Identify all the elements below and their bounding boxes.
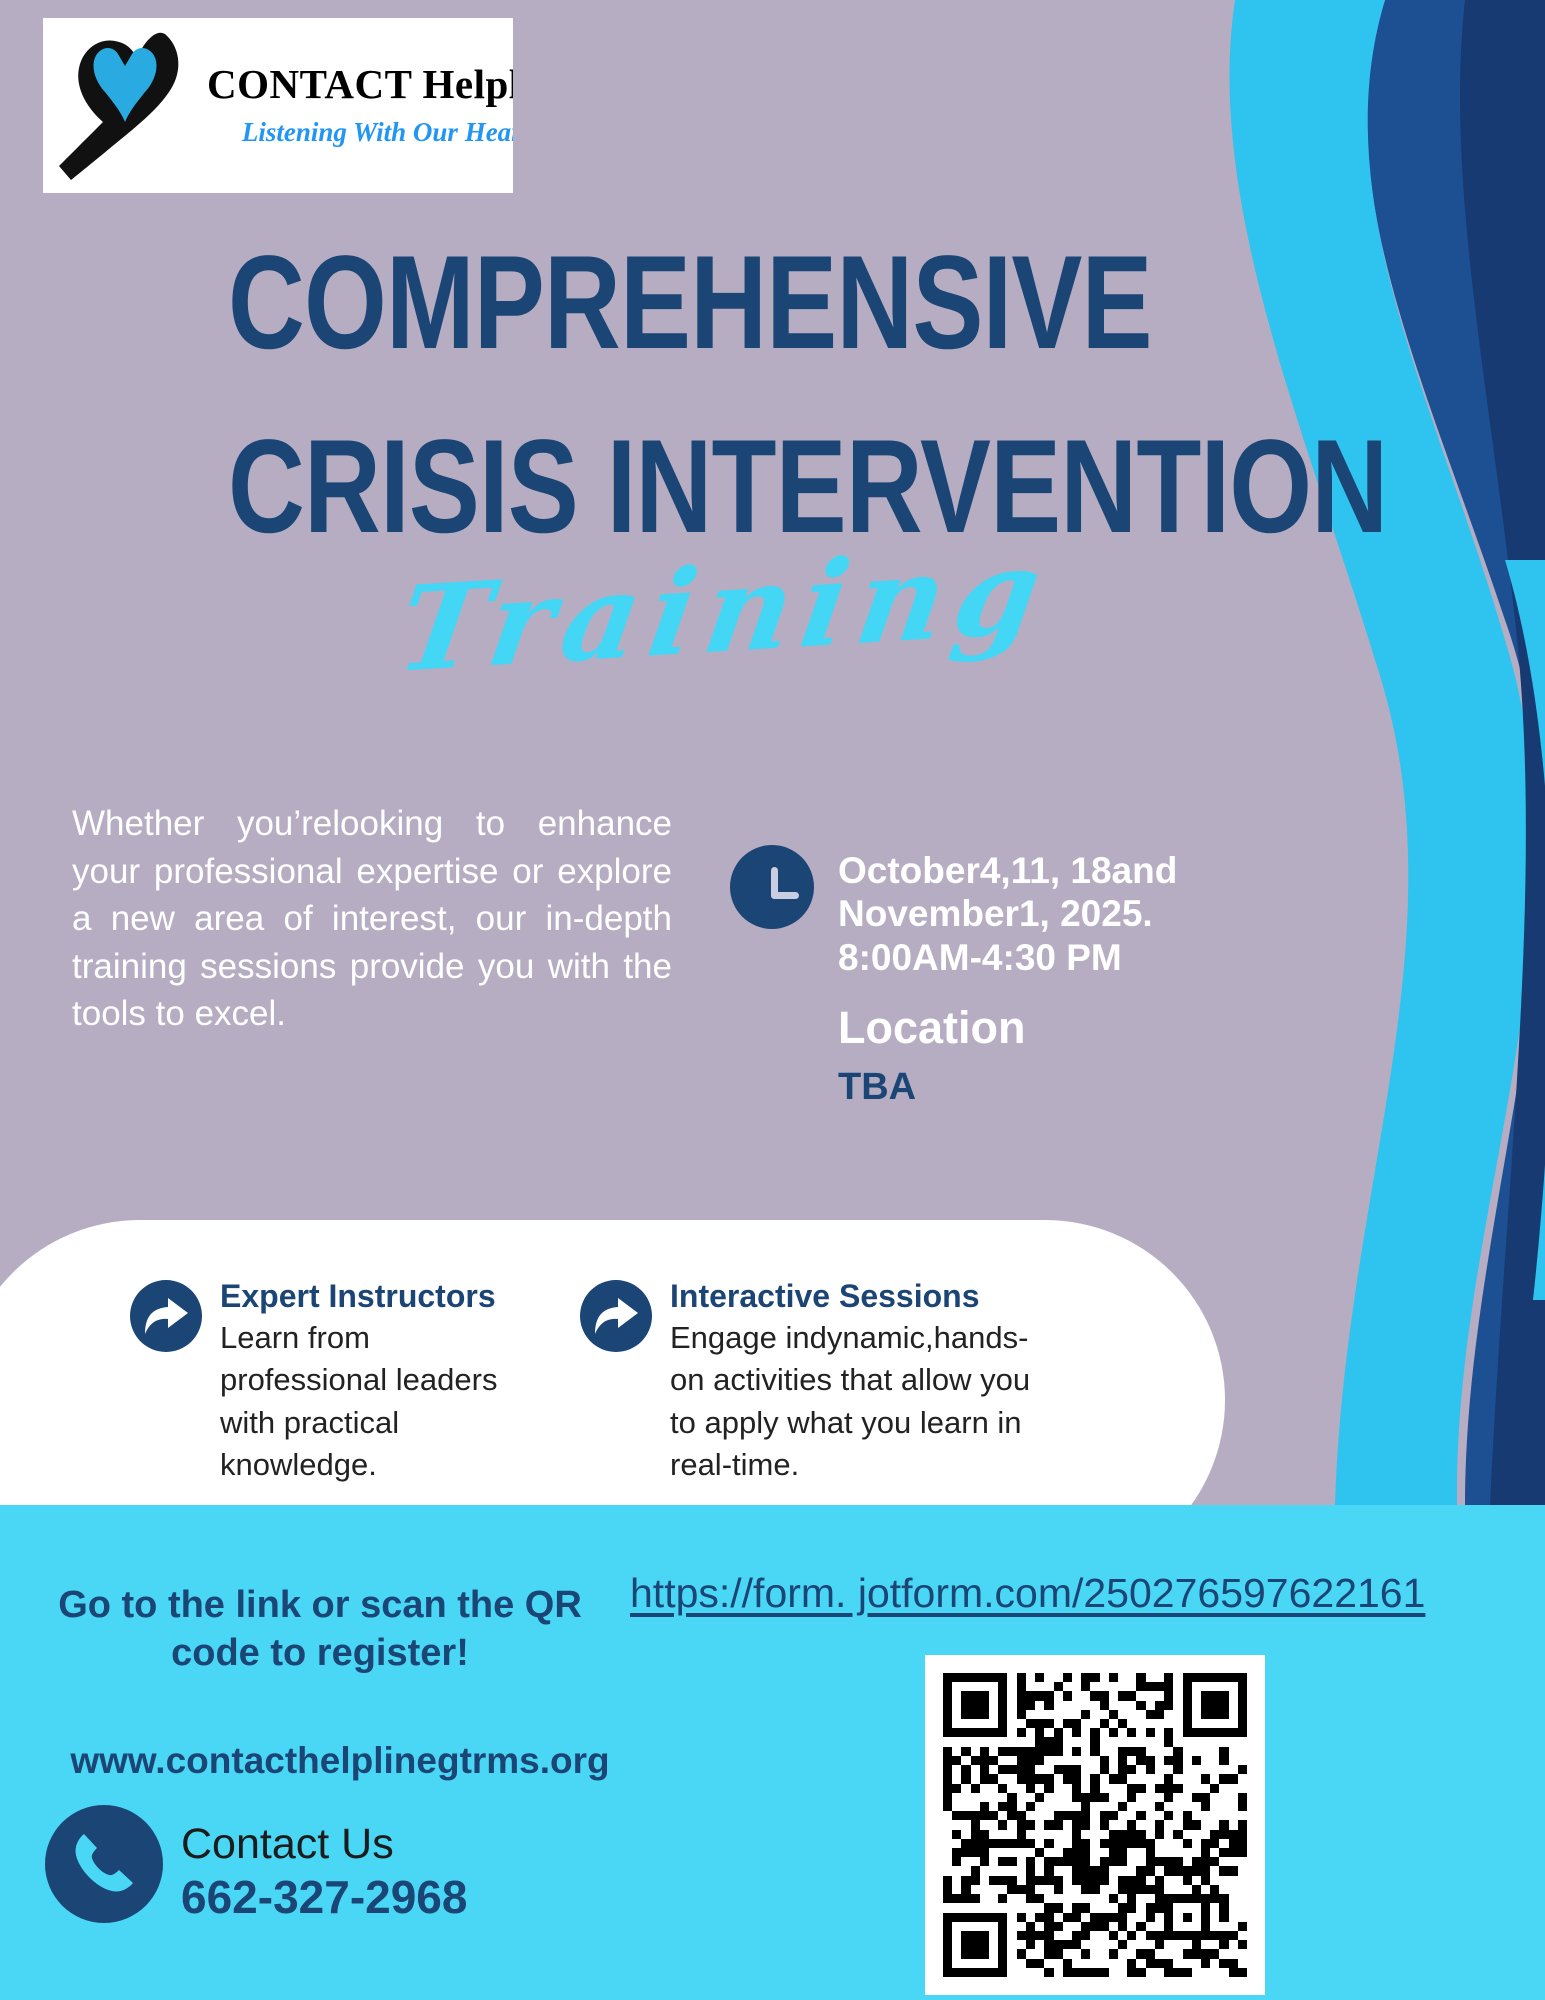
feature-title: Interactive Sessions	[670, 1278, 1050, 1315]
share-arrow-icon	[580, 1280, 652, 1352]
contact-block: Contact Us 662-327-2968	[45, 1805, 467, 1924]
schedule-dates: October4,11, 18and November1, 2025. 8:00…	[838, 849, 1200, 979]
feature-body: Engage indynamic,hands-on activities tha…	[670, 1317, 1050, 1487]
contact-us-label: Contact Us	[181, 1823, 467, 1866]
page-title: COMPREHENSIVE CRISIS INTERVENTION	[228, 240, 1328, 551]
website-text: www.contacthelplinegtrms.org	[30, 1740, 650, 1782]
share-arrow-icon	[130, 1280, 202, 1352]
clock-icon	[730, 845, 814, 929]
logo-tagline: Listening With Our Hearts	[207, 117, 513, 148]
organization-logo: CONTACT Helpline Listening With Our Hear…	[43, 18, 513, 193]
location-value: TBA	[838, 1066, 1200, 1109]
qr-code-matrix	[943, 1673, 1247, 1977]
registration-link[interactable]: https://form. jotform.com/25027659762216…	[630, 1570, 1425, 1617]
intro-paragraph: Whether you’relooking to enhance your pr…	[72, 800, 672, 1038]
flyer-poster: CONTACT Helpline Listening With Our Hear…	[0, 0, 1545, 2000]
phone-icon	[45, 1805, 163, 1923]
feature-title: Expert Instructors	[220, 1278, 510, 1315]
logo-title: CONTACT Helpline	[207, 63, 513, 106]
qr-code[interactable]	[925, 1655, 1265, 1995]
register-cta-text: Go to the link or scan the QR code to re…	[40, 1582, 600, 1677]
phone-number: 662-327-2968	[181, 1870, 467, 1924]
location-label: Location	[838, 1003, 1200, 1053]
heart-phone-logo-icon	[53, 26, 203, 186]
feature-body: Learn from professional leaders with pra…	[220, 1317, 510, 1487]
headline-line-1: COMPREHENSIVE	[228, 240, 1108, 366]
schedule-block: October4,11, 18and November1, 2025. 8:00…	[730, 845, 1200, 1109]
